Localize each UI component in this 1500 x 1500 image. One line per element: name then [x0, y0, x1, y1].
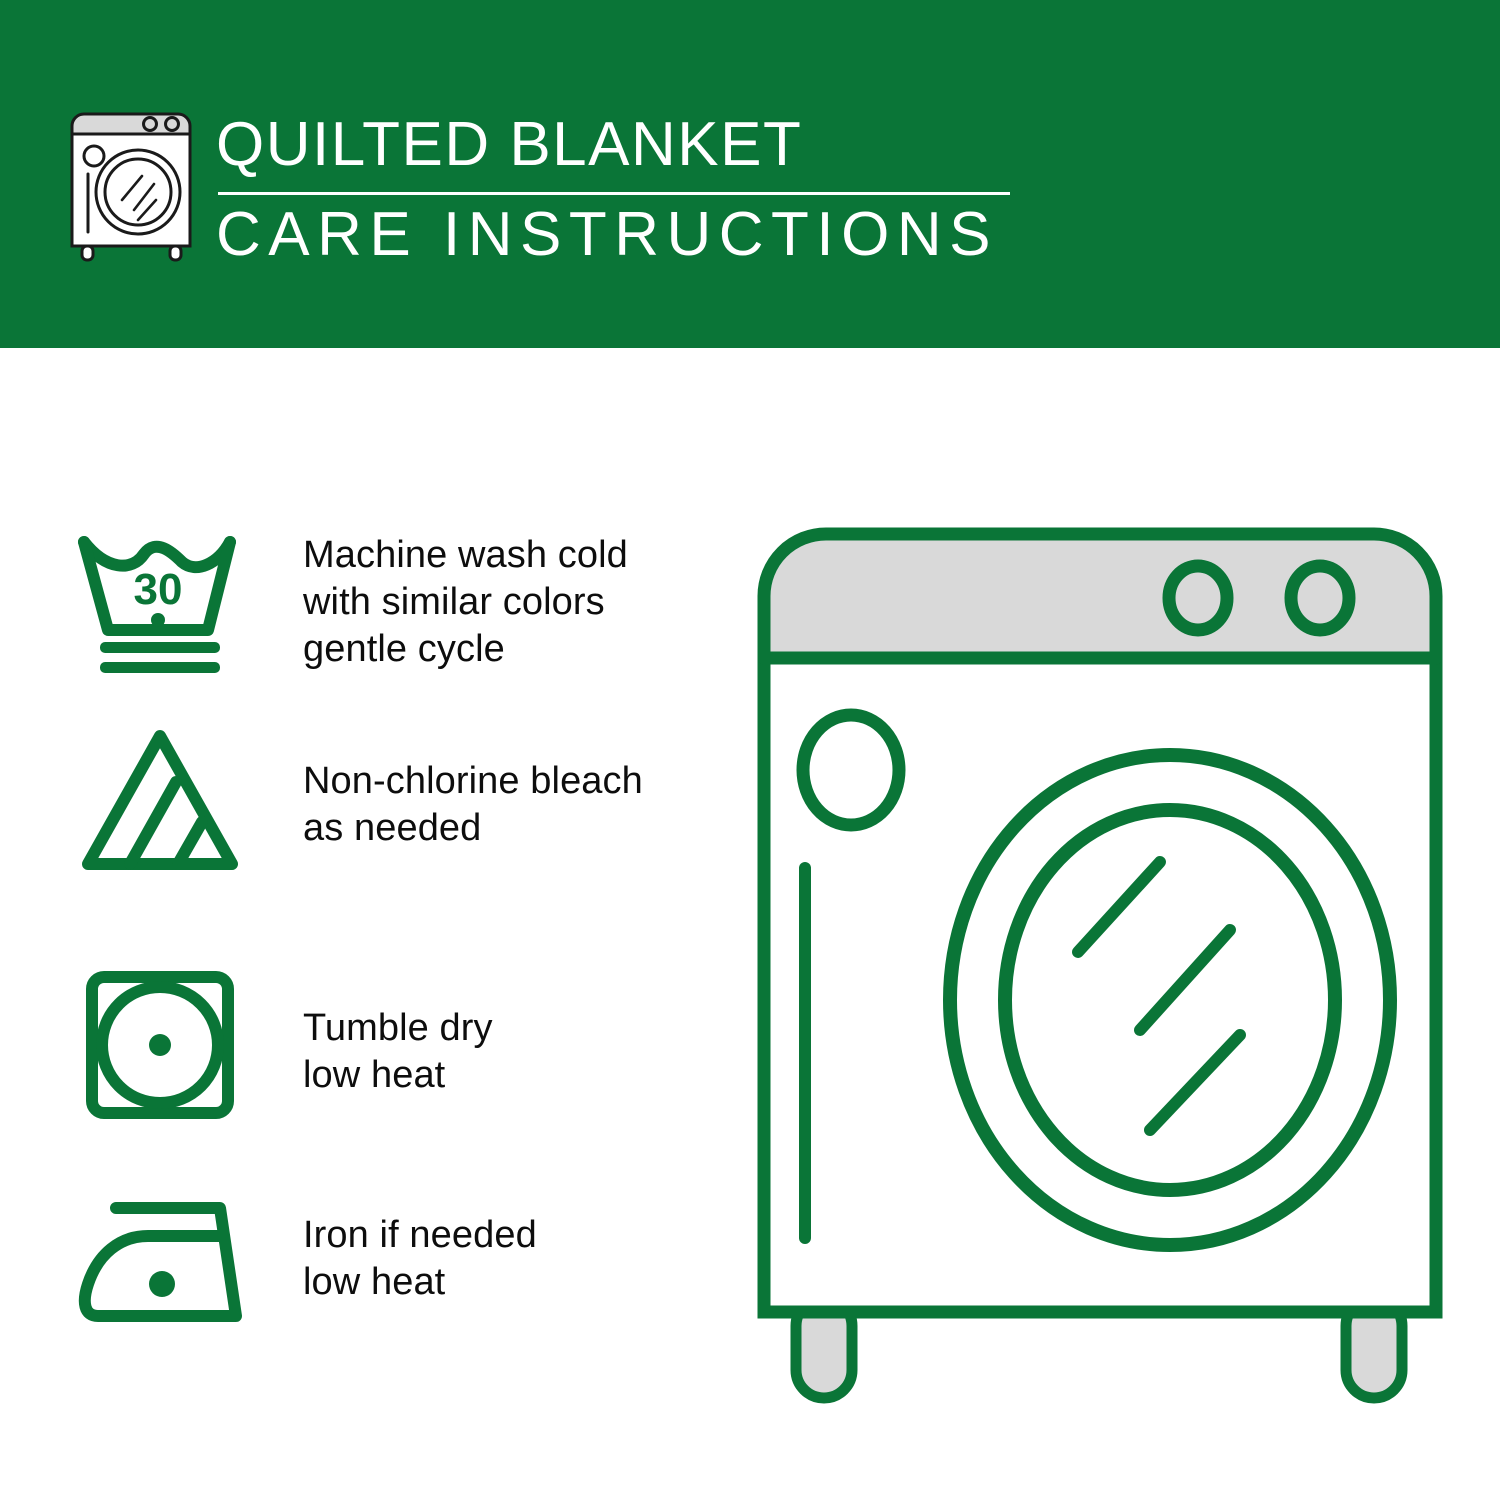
header-text-block: QUILTED BLANKET CARE INSTRUCTIONS [216, 104, 1026, 266]
label-line: Tumble dry [303, 1005, 723, 1052]
label-line: gentle cycle [303, 626, 723, 673]
instruction-label-bleach: Non-chlorine bleach as needed [303, 758, 723, 852]
page-title: QUILTED BLANKET [216, 104, 1026, 186]
label-line: Machine wash cold [303, 532, 723, 579]
non-chlorine-bleach-triangle-icon [72, 720, 248, 880]
tumble-dry-low-heat-icon [72, 965, 248, 1125]
front-load-washing-machine-illustration [740, 490, 1460, 1430]
iron-low-heat-icon [72, 1180, 248, 1340]
label-line: Iron if needed [303, 1212, 723, 1259]
label-line: low heat [303, 1259, 723, 1306]
label-line: low heat [303, 1052, 723, 1099]
header-band: QUILTED BLANKET CARE INSTRUCTIONS [0, 0, 1500, 348]
label-line: as needed [303, 805, 723, 852]
instruction-label-machine-wash: Machine wash cold with similar colors ge… [303, 532, 723, 673]
title-divider [218, 192, 1010, 195]
instruction-label-iron: Iron if needed low heat [303, 1212, 723, 1306]
care-instructions-page: QUILTED BLANKET CARE INSTRUCTIONS 30 [0, 0, 1500, 1500]
instruction-list: 30 Machine wash cold with similar colors… [0, 420, 740, 1420]
label-line: with similar colors [303, 579, 723, 626]
wash-temperature-value: 30 [134, 565, 183, 614]
washing-machine-icon [62, 104, 202, 266]
washer-control-panel [764, 534, 1436, 658]
page-subtitle: CARE INSTRUCTIONS [216, 200, 1026, 270]
wash-tub-30-gentle-icon: 30 [72, 520, 248, 680]
label-line: Non-chlorine bleach [303, 758, 723, 805]
instruction-label-tumble-dry: Tumble dry low heat [303, 1005, 723, 1099]
